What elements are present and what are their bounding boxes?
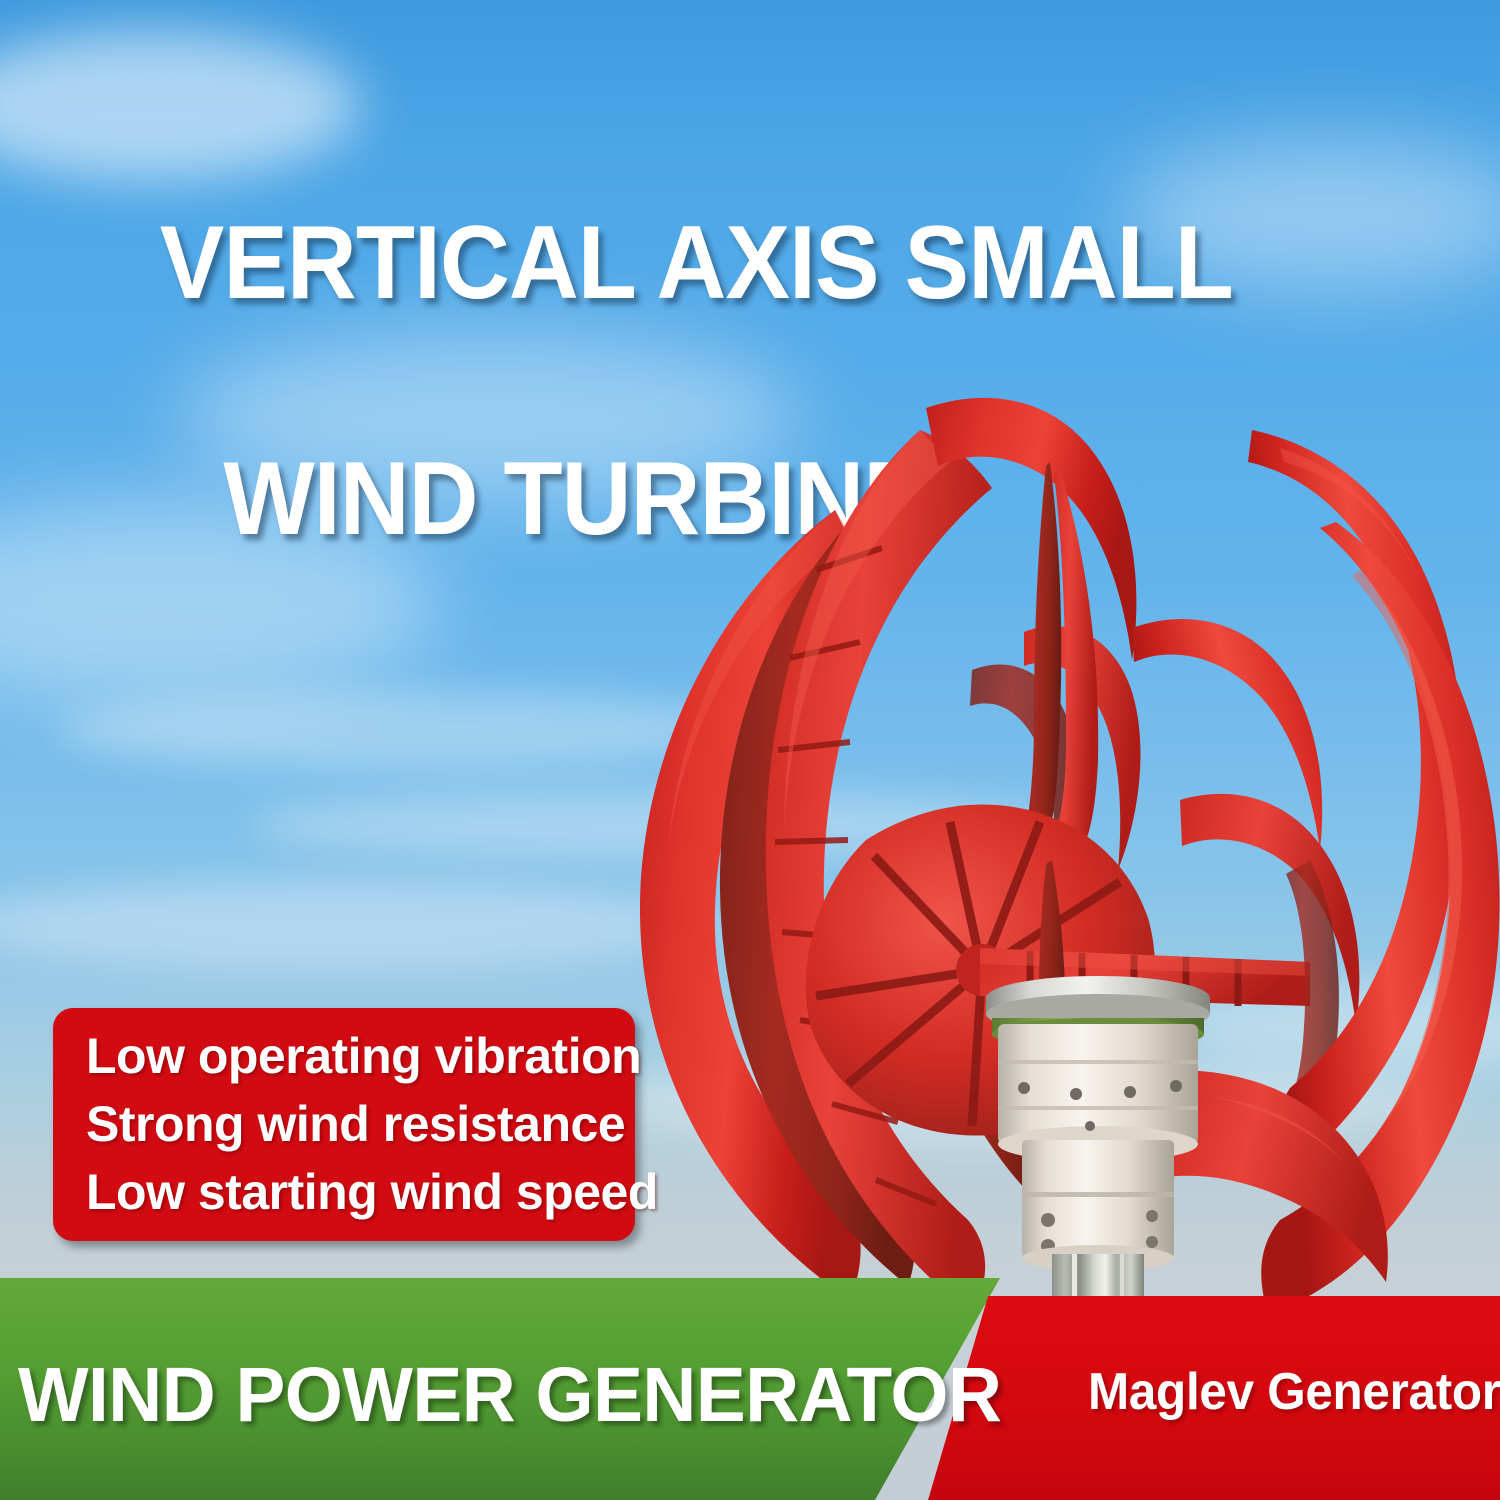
wind-turbine-illustration	[620, 370, 1500, 1330]
banner-secondary-title: Maglev Generator	[1088, 1362, 1500, 1422]
feature-item: Low operating vibration	[86, 1022, 635, 1090]
generator-neck	[1022, 1140, 1174, 1271]
headline-line-1: VERTICAL AXIS SMALL	[160, 205, 1233, 321]
generator-assembly	[986, 976, 1210, 1271]
banner-primary-title: WIND POWER GENERATOR	[18, 1355, 1001, 1435]
product-poster: VERTICAL AXIS SMALL WIND TURBINE	[0, 0, 1500, 1500]
feature-item: Low starting wind speed	[86, 1158, 635, 1226]
turbine-blade-upper-left	[926, 398, 1136, 660]
feature-item: Strong wind resistance	[86, 1090, 635, 1158]
features-callout-box: Low operating vibration Strong wind resi…	[53, 1008, 635, 1241]
